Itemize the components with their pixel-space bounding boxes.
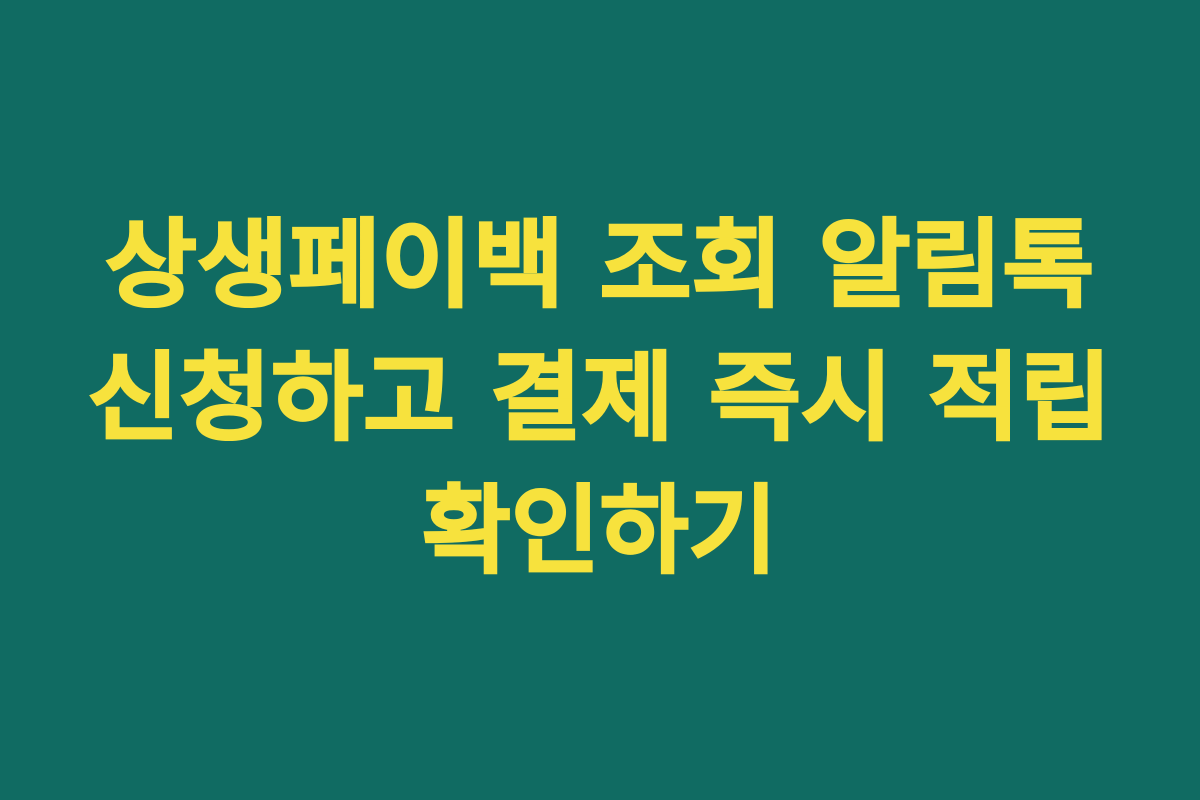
- headline-line-3: 확인하기: [422, 465, 777, 598]
- headline-block: 상생페이백 조회 알림톡 신청하고 결제 즉시 적립 확인하기: [0, 199, 1200, 598]
- promo-banner: 상생페이백 조회 알림톡 신청하고 결제 즉시 적립 확인하기: [0, 0, 1200, 800]
- headline-line-1: 상생페이백 조회 알림톡: [105, 199, 1094, 332]
- headline-line-2: 신청하고 결제 즉시 적립: [88, 332, 1112, 465]
